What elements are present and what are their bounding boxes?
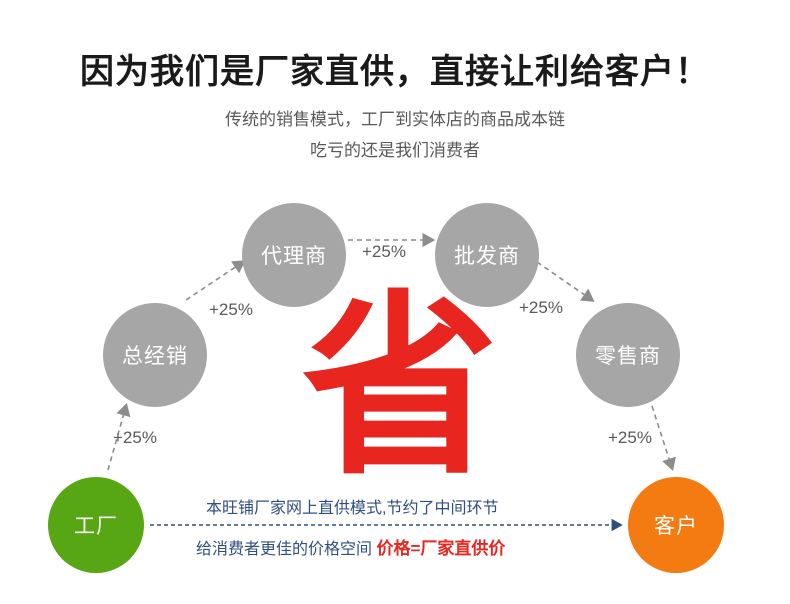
node-agent: 代理商 [242,203,346,307]
node-customer-label: 客户 [654,510,698,540]
infographic-canvas: 因为我们是厂家直供，直接让利给客户！ 传统的销售模式，工厂到实体店的商品成本链 … [0,0,790,604]
markup-distributor-agent: +25% [209,300,253,320]
markup-factory-distributor: +25% [113,428,157,448]
node-retailer-label: 零售商 [595,340,661,370]
savings-watermark-character: 省 [295,290,505,486]
subtitle-line-1: 传统的销售模式，工厂到实体店的商品成本链 [0,105,790,130]
direct-supply-price-highlight: 价格=厂家直供价 [376,539,505,558]
markup-wholesaler-retailer: +25% [519,298,563,318]
subtitle-line-2: 吃亏的还是我们消费者 [0,136,790,161]
node-retailer: 零售商 [576,303,680,407]
node-wholesaler: 批发商 [435,203,539,307]
markup-retailer-customer: +25% [608,428,652,448]
arrow-wholesaler-to-retailer [537,262,592,300]
markup-agent-wholesaler: +25% [362,242,406,262]
node-factory: 工厂 [48,477,144,573]
direct-supply-note-line-1: 本旺铺厂家网上直供模式,节约了中间环节 [206,494,498,518]
node-customer: 客户 [628,477,724,573]
arrow-retailer-to-customer [652,406,672,468]
node-distributor: 总经销 [103,303,207,407]
arrow-distributor-to-agent [186,262,243,300]
node-distributor-label: 总经销 [122,340,188,370]
page-title: 因为我们是厂家直供，直接让利给客户！ [0,44,790,93]
node-wholesaler-label: 批发商 [454,240,520,270]
direct-supply-note-prefix: 给消费者更佳的价格空间 [196,541,372,558]
node-factory-label: 工厂 [74,510,118,540]
node-agent-label: 代理商 [261,240,327,270]
direct-supply-note-line-2: 给消费者更佳的价格空间 价格=厂家直供价 [196,534,505,559]
